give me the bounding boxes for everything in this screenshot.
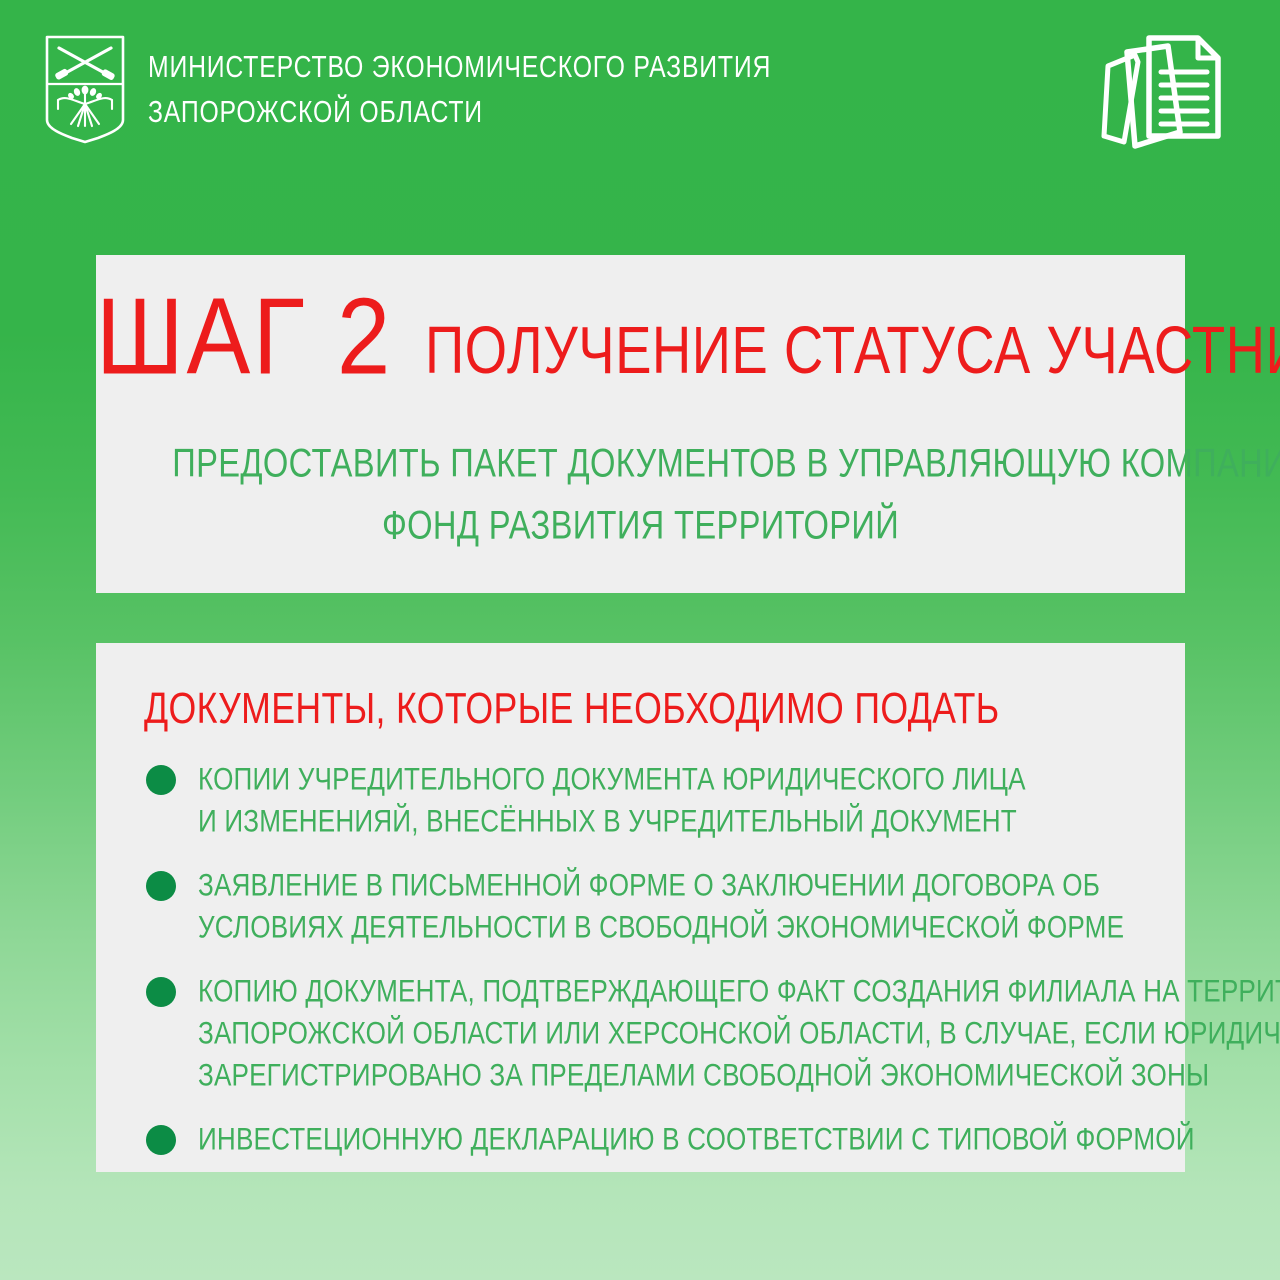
coat-of-arms-zaporozhye-region-icon: [44, 34, 126, 144]
list-item-text: ИНВЕСТЕЦИОННУЮ ДЕКЛАРАЦИЮ В СООТВЕТСТВИИ…: [198, 1119, 1163, 1161]
title-card: ШАГ 2ПОЛУЧЕНИЕ СТАТУСА УЧАСТНИКА СЭЗ ПРЕ…: [96, 255, 1185, 593]
ministry-title: МИНИСТЕРСТВО ЭКОНОМИЧЕСКОГО РАЗВИТИЯ ЗАП…: [148, 44, 868, 134]
bullet-dot-icon: [146, 871, 176, 901]
list-item: ИНВЕСТЕЦИОННУЮ ДЕКЛАРАЦИЮ В СООТВЕТСТВИИ…: [142, 1119, 1163, 1161]
list-item-line: КОПИИ УЧРЕДИТЕЛЬНОГО ДОКУМЕНТА ЮРИДИЧЕСК…: [198, 758, 1038, 802]
list-item-text: КОПИЮ ДОКУМЕНТА, ПОДТВЕРЖДАЮЩЕГО ФАКТ СО…: [198, 971, 1163, 1097]
stack-of-documents-icon: [1094, 28, 1234, 160]
page-title: ШАГ 2ПОЛУЧЕНИЕ СТАТУСА УЧАСТНИКА СЭЗ: [96, 287, 1185, 391]
bullet-dot-icon: [146, 765, 176, 795]
documents-list: КОПИИ УЧРЕДИТЕЛЬНОГО ДОКУМЕНТА ЮРИДИЧЕСК…: [142, 759, 1163, 1161]
list-item-line: ИНВЕСТЕЦИОННУЮ ДЕКЛАРАЦИЮ В СООТВЕТСТВИИ…: [198, 1118, 1038, 1162]
list-item-line: УСЛОВИЯХ ДЕЯТЕЛЬНОСТИ В СВОБОДНОЙ ЭКОНОМ…: [198, 906, 1038, 950]
documents-heading: ДОКУМЕНТЫ, КОТОРЫЕ НЕОБХОДИМО ПОДАТЬ: [144, 685, 999, 732]
list-item-line: ЗАПОРОЖСКОЙ ОБЛАСТИ ИЛИ ХЕРСОНСКОЙ ОБЛАС…: [198, 1012, 1038, 1056]
bullet-dot-icon: [146, 1125, 176, 1155]
subtitle-line2: ФОНД РАЗВИТИЯ ТЕРРИТОРИЙ: [172, 493, 1109, 559]
bullet-dot-icon: [146, 977, 176, 1007]
ministry-title-line1: МИНИСТЕРСТВО ЭКОНОМИЧЕСКОГО РАЗВИТИЯ: [148, 44, 868, 89]
documents-card: ДОКУМЕНТЫ, КОТОРЫЕ НЕОБХОДИМО ПОДАТЬ КОП…: [96, 643, 1185, 1172]
list-item-line: И ИЗМЕНЕНИЯЙ, ВНЕСЁННЫХ В УЧРЕДИТЕЛЬНЫЙ …: [198, 800, 1038, 844]
list-item-line: КОПИЮ ДОКУМЕНТА, ПОДТВЕРЖДАЮЩЕГО ФАКТ СО…: [198, 970, 1038, 1014]
list-item: КОПИИ УЧРЕДИТЕЛЬНОГО ДОКУМЕНТА ЮРИДИЧЕСК…: [142, 759, 1163, 843]
page-header: МИНИСТЕРСТВО ЭКОНОМИЧЕСКОГО РАЗВИТИЯ ЗАП…: [0, 0, 1280, 196]
list-item-line: ЗАРЕГИСТРИРОВАНО ЗА ПРЕДЕЛАМИ СВОБОДНОЙ …: [198, 1054, 1038, 1098]
page-subtitle: ПРЕДОСТАВИТЬ ПАКЕТ ДОКУМЕНТОВ В УПРАВЛЯЮ…: [96, 433, 1185, 557]
list-item-text: ЗАЯВЛЕНИЕ В ПИСЬМЕННОЙ ФОРМЕ О ЗАКЛЮЧЕНИ…: [198, 865, 1163, 949]
list-item-text: КОПИИ УЧРЕДИТЕЛЬНОГО ДОКУМЕНТА ЮРИДИЧЕСК…: [198, 759, 1163, 843]
step-label: ШАГ 2: [96, 283, 393, 391]
ministry-title-line2: ЗАПОРОЖСКОЙ ОБЛАСТИ: [148, 89, 868, 134]
infographic-page: МИНИСТЕРСТВО ЭКОНОМИЧЕСКОГО РАЗВИТИЯ ЗАП…: [0, 0, 1280, 1280]
subtitle-line1: ПРЕДОСТАВИТЬ ПАКЕТ ДОКУМЕНТОВ В УПРАВЛЯЮ…: [172, 431, 1109, 497]
list-item: КОПИЮ ДОКУМЕНТА, ПОДТВЕРЖДАЮЩЕГО ФАКТ СО…: [142, 971, 1163, 1097]
list-item-line: ЗАЯВЛЕНИЕ В ПИСЬМЕННОЙ ФОРМЕ О ЗАКЛЮЧЕНИ…: [198, 864, 1038, 908]
step-title-text: ПОЛУЧЕНИЕ СТАТУСА УЧАСТНИКА СЭЗ: [425, 318, 1280, 385]
list-item: ЗАЯВЛЕНИЕ В ПИСЬМЕННОЙ ФОРМЕ О ЗАКЛЮЧЕНИ…: [142, 865, 1163, 949]
